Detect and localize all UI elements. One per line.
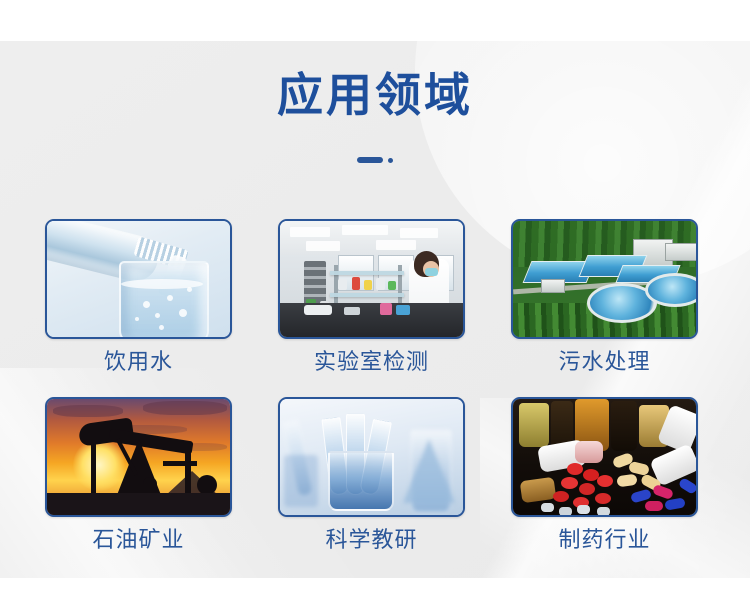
science-research-photo bbox=[278, 397, 465, 517]
card-label: 制药行业 bbox=[511, 529, 698, 553]
divider-dot-icon bbox=[388, 158, 393, 163]
application-card[interactable]: 石油矿业 bbox=[45, 397, 232, 553]
application-card[interactable]: 实验室检测 bbox=[278, 219, 465, 375]
application-fields-banner: 应用领域 bbox=[0, 0, 750, 611]
drinking-water-photo bbox=[45, 219, 232, 339]
oil-mining-photo bbox=[45, 397, 232, 517]
divider-bar-icon bbox=[357, 157, 383, 163]
title-divider bbox=[0, 157, 750, 163]
laboratory-testing-photo bbox=[278, 219, 465, 339]
page-title: 应用领域 bbox=[0, 72, 750, 118]
application-card[interactable]: 饮用水 bbox=[45, 219, 232, 375]
card-label: 科学教研 bbox=[278, 529, 465, 553]
card-label: 饮用水 bbox=[45, 351, 232, 375]
card-label: 污水处理 bbox=[511, 351, 698, 375]
card-label: 实验室检测 bbox=[278, 351, 465, 375]
application-card[interactable]: 制药行业 bbox=[511, 397, 698, 553]
application-card-grid: 饮用水 bbox=[45, 219, 707, 553]
card-label: 石油矿业 bbox=[45, 529, 232, 553]
application-card[interactable]: 科学教研 bbox=[278, 397, 465, 553]
wastewater-treatment-photo bbox=[511, 219, 698, 339]
pharmaceutical-industry-photo bbox=[511, 397, 698, 517]
application-card[interactable]: 污水处理 bbox=[511, 219, 698, 375]
